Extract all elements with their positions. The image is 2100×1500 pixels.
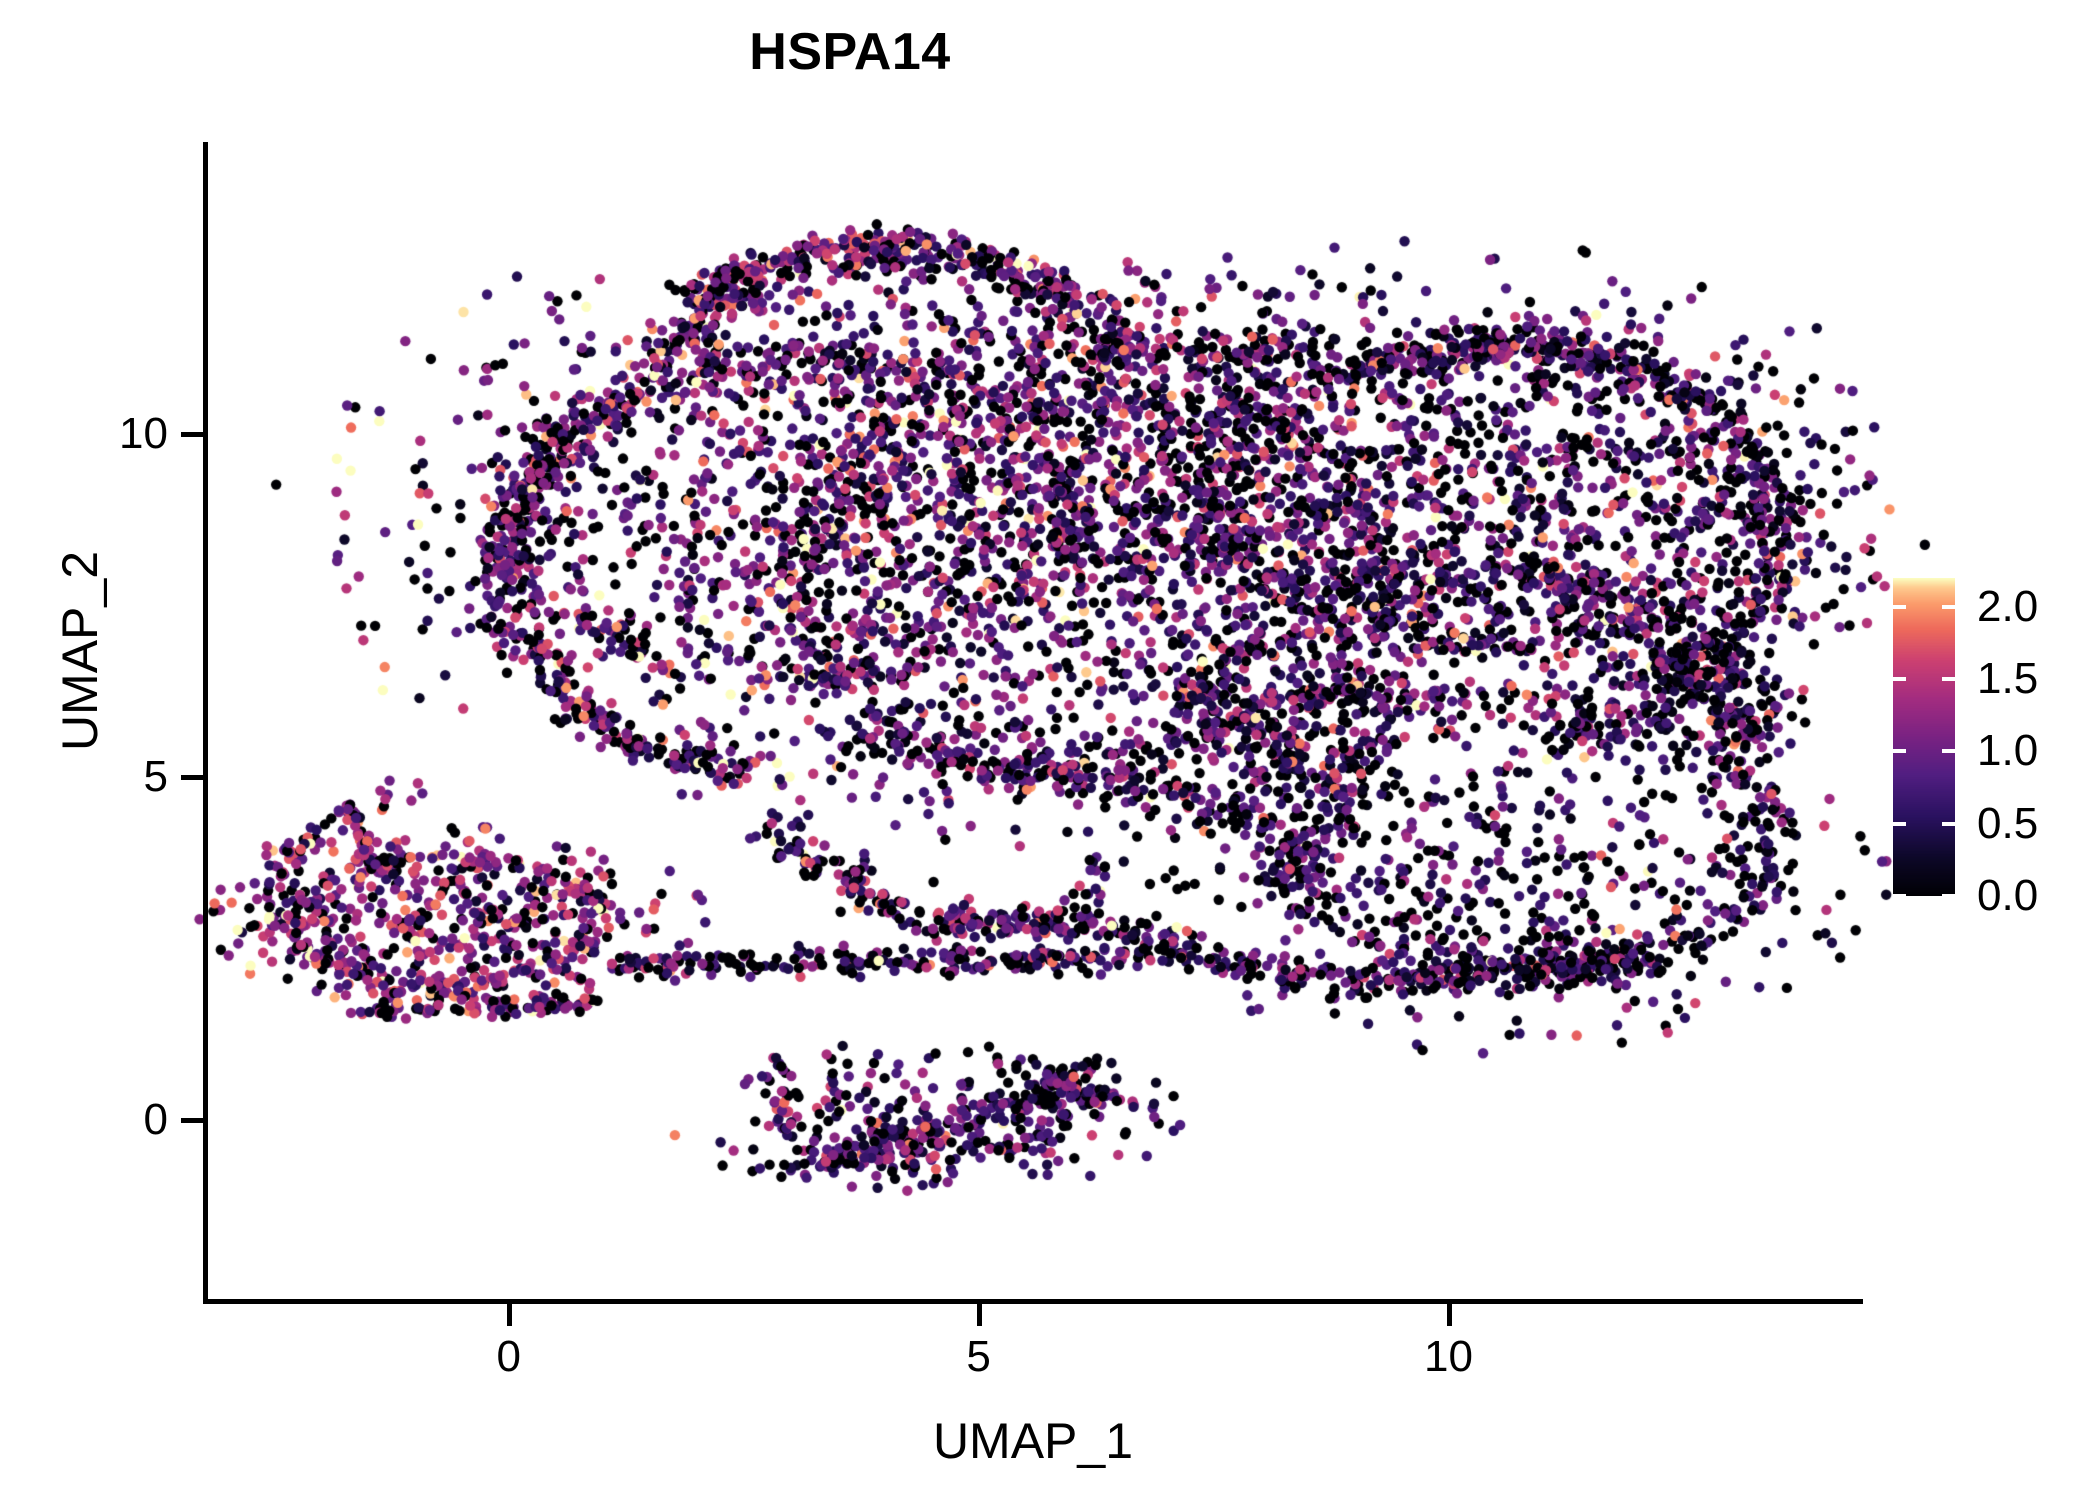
colorbar-tick-0.5 xyxy=(1942,822,1955,826)
colorbar-tick-2.0 xyxy=(1942,605,1955,609)
x-tick-label-5: 5 xyxy=(899,1332,1059,1382)
colorbar-tick-1.0 xyxy=(1893,749,1906,753)
colorbar-tick-1.0 xyxy=(1942,749,1955,753)
colorbar-label-0.0: 0.0 xyxy=(1977,871,2038,921)
colorbar-label-2.0: 2.0 xyxy=(1977,582,2038,632)
x-tick-label-10: 10 xyxy=(1369,1332,1529,1382)
colorbar-legend[interactable]: 0.00.51.01.52.0 xyxy=(1893,560,2093,920)
y-tick-10 xyxy=(181,432,203,437)
scatter-canvas[interactable] xyxy=(0,0,2100,1500)
y-tick-0 xyxy=(181,1118,203,1123)
x-tick-0 xyxy=(507,1304,512,1326)
scatter-plot-area[interactable] xyxy=(0,0,2100,1500)
colorbar-gradient xyxy=(1893,578,1955,896)
colorbar-tick-1.5 xyxy=(1893,677,1906,681)
x-tick-10 xyxy=(1447,1304,1452,1326)
colorbar-tick-2.0 xyxy=(1893,605,1906,609)
colorbar-label-1.0: 1.0 xyxy=(1977,726,2038,776)
x-axis-line xyxy=(203,1299,1863,1304)
x-tick-label-0: 0 xyxy=(429,1332,589,1382)
y-axis-line xyxy=(203,142,208,1304)
colorbar-tick-0.5 xyxy=(1893,822,1906,826)
colorbar-label-1.5: 1.5 xyxy=(1977,654,2038,704)
colorbar-label-0.5: 0.5 xyxy=(1977,799,2038,849)
y-axis-title: UMAP_2 xyxy=(51,401,109,901)
x-tick-5 xyxy=(977,1304,982,1326)
x-axis-title: UMAP_1 xyxy=(203,1412,1863,1470)
y-tick-5 xyxy=(181,775,203,780)
plot-root: HSPA14 0510 0510 UMAP_2 UMAP_1 0.00.51.0… xyxy=(0,0,2100,1500)
colorbar-tick-1.5 xyxy=(1942,677,1955,681)
colorbar-tick-0.0 xyxy=(1893,894,1906,898)
y-tick-label-0: 0 xyxy=(0,1095,168,1145)
colorbar-tick-0.0 xyxy=(1942,894,1955,898)
